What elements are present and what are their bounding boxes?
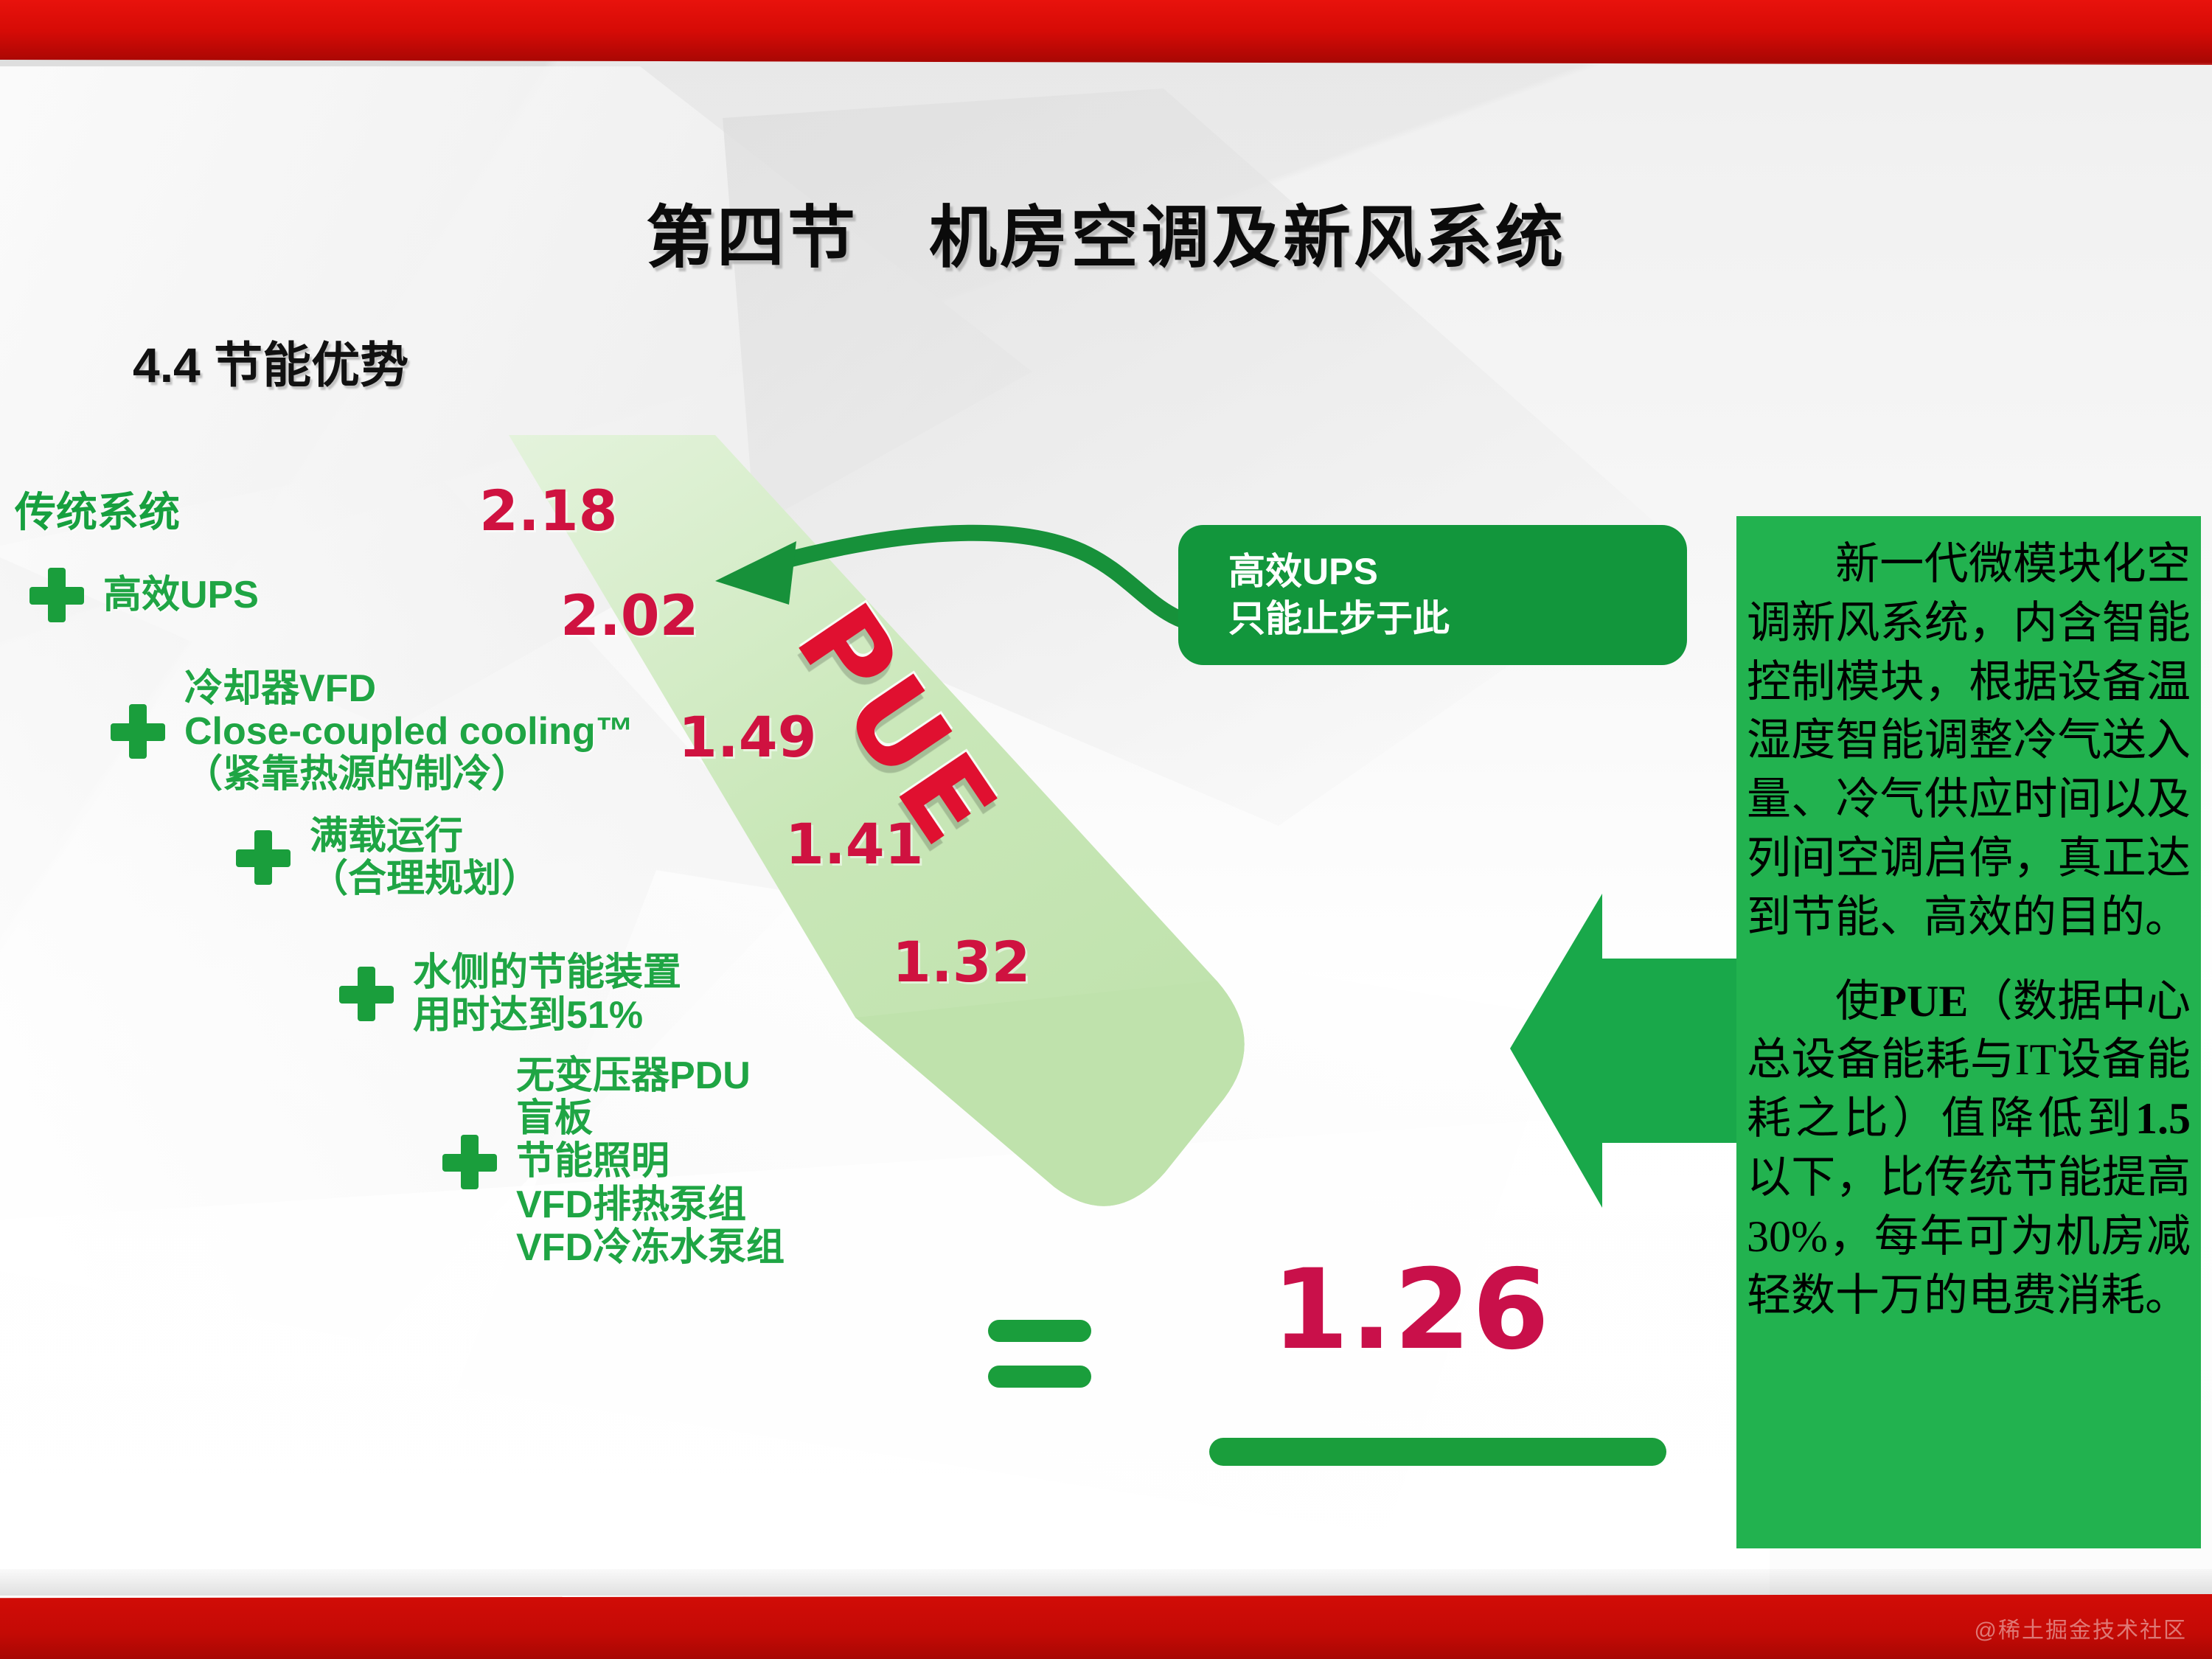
panel-p2-threshold: 1.5 xyxy=(2135,1094,2191,1143)
benefit-item-5: 无变压器PDU 盲板 节能照明 VFD排热泵组 VFD冷冻水泵组 xyxy=(442,1054,785,1269)
callout-box: 高效UPS 只能止步于此 xyxy=(1178,525,1687,665)
plus-icon xyxy=(339,967,394,1021)
right-green-panel: 新一代微模块化空调新风系统，内含智能控制模块，根据设备温湿度智能调整冷气送入量、… xyxy=(1736,516,2201,1548)
benefit-item-3: 满载运行 （合理规划） xyxy=(236,815,540,900)
benefit-item-4: 水侧的节能装置 用时达到51% xyxy=(339,951,681,1037)
benefit-item-label: 冷却器VFD Close-coupled cooling™ （紧靠热源的制冷） xyxy=(184,667,634,796)
page-title: 第四节 机房空调及新风系统 xyxy=(0,183,2212,281)
plus-icon xyxy=(111,704,165,759)
pue-value-1: 2.02 xyxy=(560,582,699,648)
section-subtitle: 4.4 节能优势 xyxy=(133,326,408,397)
callout-line-2: 只能止步于此 xyxy=(1228,595,1687,642)
plus-icon xyxy=(29,568,84,622)
panel-p2-pre: 使 xyxy=(1835,977,1879,1026)
footer-shade xyxy=(0,1569,2212,1596)
watermark-label: @稀土掘金技术社区 xyxy=(1975,1612,2187,1644)
benefit-item-label: 无变压器PDU 盲板 节能照明 VFD排热泵组 VFD冷冻水泵组 xyxy=(516,1054,785,1269)
benefit-item-2: 冷却器VFD Close-coupled cooling™ （紧靠热源的制冷） xyxy=(111,667,634,796)
benefit-item-1: 高效UPS xyxy=(29,568,259,622)
pue-value-2: 1.49 xyxy=(678,704,817,770)
benefit-item-label: 水侧的节能装置 用时达到51% xyxy=(413,951,681,1037)
panel-paragraph-1: 新一代微模块化空调新风系统，内含智能控制模块，根据设备温湿度智能调整冷气送入量、… xyxy=(1747,535,2191,947)
callout-line-1: 高效UPS xyxy=(1228,548,1687,595)
result-underline xyxy=(1209,1438,1666,1466)
panel-p2-post: 以下，比传统节能提高30%，每年可为机房减轻数十万的电费消耗。 xyxy=(1747,1153,2191,1320)
result-value: 1.26 xyxy=(1272,1246,1551,1374)
plus-icon xyxy=(442,1135,497,1189)
pue-value-0: 2.18 xyxy=(479,478,618,543)
slide-root: 第四节 机房空调及新风系统 4.4 节能优势 PUE 传统系统 2.18 高效U… xyxy=(0,0,2212,1659)
big-left-arrow-icon xyxy=(1510,877,1753,1224)
footer-bar xyxy=(0,1594,2212,1659)
callout-connector-arrow xyxy=(686,509,1231,678)
panel-p2-mid: （数据中心总设备能耗与IT设备能耗之比）值降低到 xyxy=(1747,977,2191,1144)
header-bar xyxy=(0,0,2212,65)
baseline-label: 传统系统 xyxy=(15,479,180,539)
equals-sign xyxy=(988,1320,1091,1401)
panel-paragraph-2: 使PUE（数据中心总设备能耗与IT设备能耗之比）值降低到1.5以下，比传统节能提… xyxy=(1747,973,2191,1326)
plus-icon xyxy=(236,830,291,885)
pue-value-3: 1.41 xyxy=(785,811,924,877)
pue-value-4: 1.32 xyxy=(892,929,1031,995)
panel-p2-pue: PUE xyxy=(1879,977,1968,1026)
benefit-item-label: 满载运行 （合理规划） xyxy=(310,815,540,900)
benefit-item-label: 高效UPS xyxy=(103,574,259,616)
